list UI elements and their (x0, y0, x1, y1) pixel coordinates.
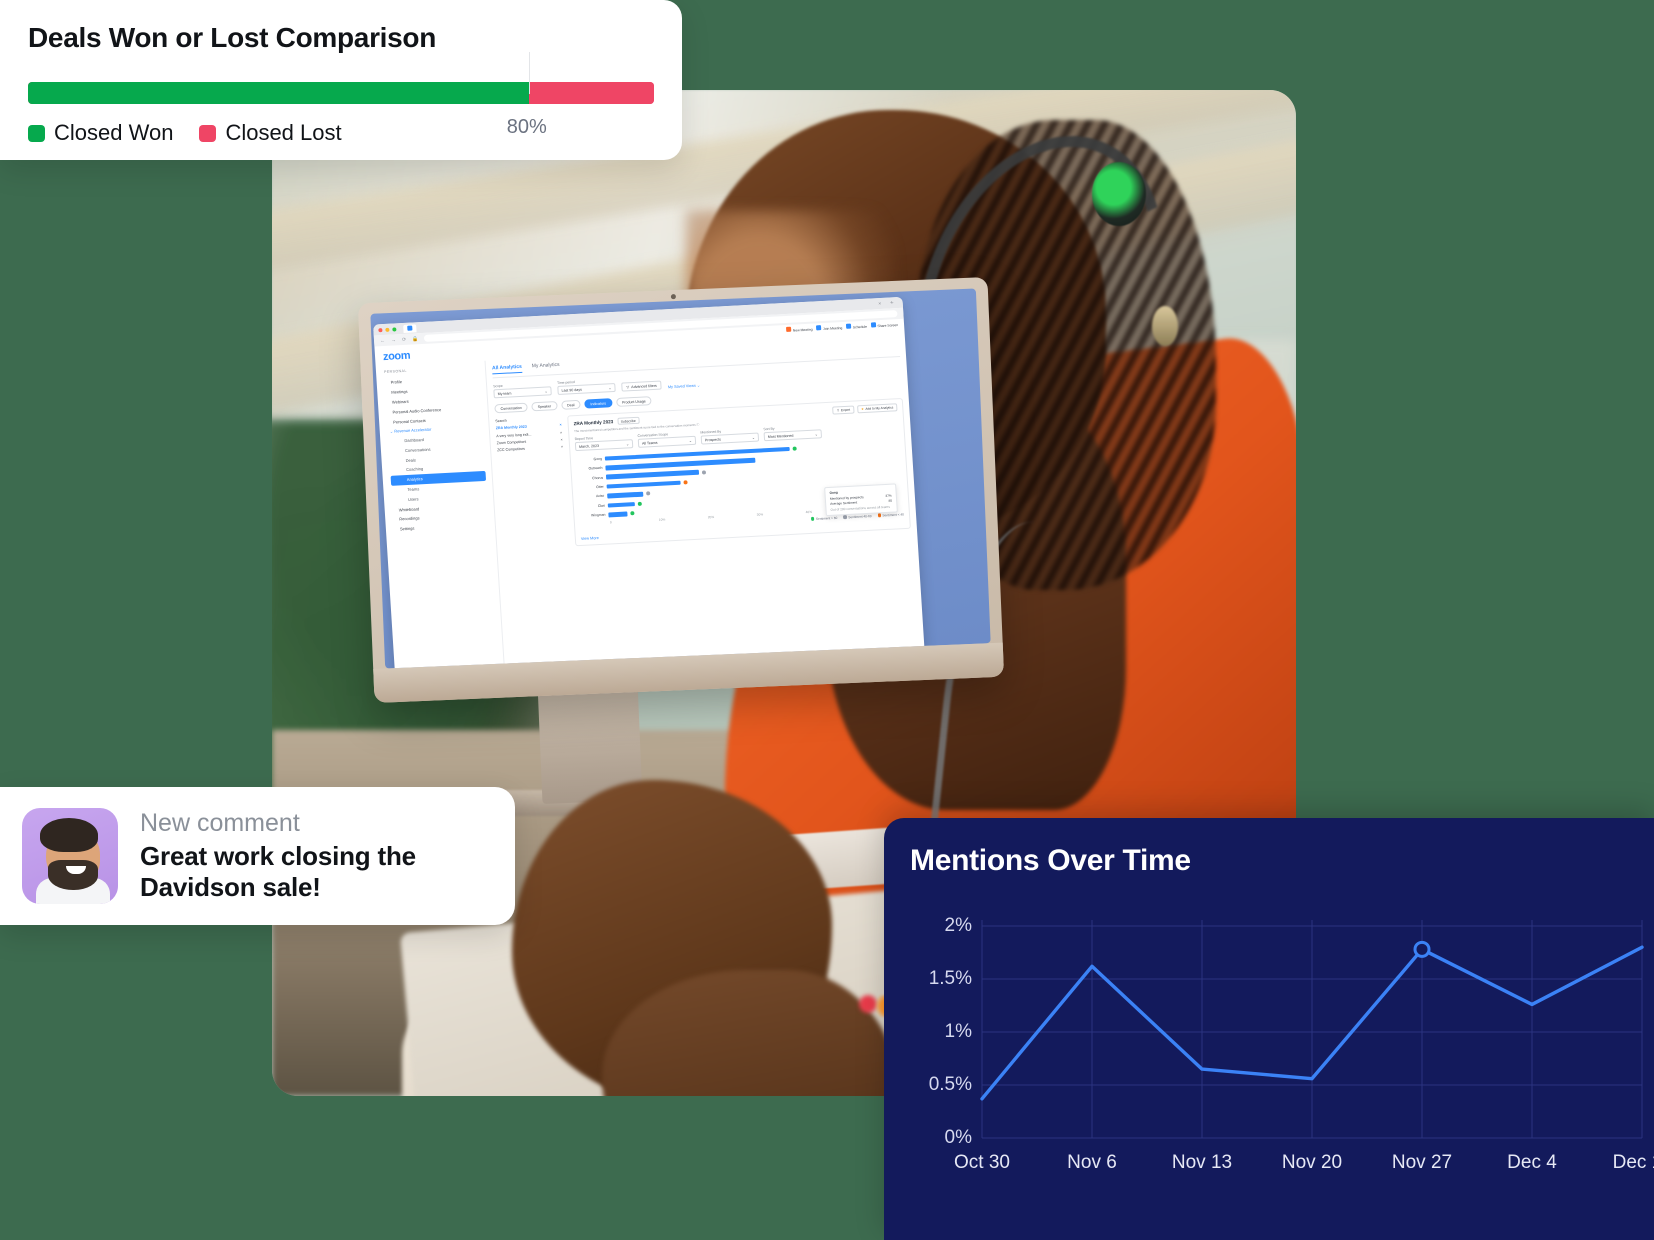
search-panel: Search ZRA Monthly 2023× A very very lon… (495, 416, 569, 550)
search-tag-zra-monthly-2023[interactable]: ZRA Monthly 2023× (496, 423, 562, 430)
join-icon (816, 325, 821, 330)
bar-label: Wingman (579, 513, 605, 518)
percent-label: 80% (507, 116, 547, 139)
search-tag-long-indicator[interactable]: A very very long indi...× (496, 430, 562, 437)
webcam (671, 294, 676, 299)
mentions-over-time-card: Mentions Over Time 2%1.5%1%0.5%0% Oct 30… (884, 818, 1654, 1240)
plus-icon[interactable]: + (890, 300, 894, 306)
search-tag-zoom-competitors[interactable]: Zoom Competitors× (497, 438, 563, 445)
legend-label: Sentiment < 40 (882, 513, 904, 518)
bar-label: Chorus (577, 475, 603, 480)
bar[interactable] (608, 511, 627, 517)
conversation-scope-value: All Teams (642, 441, 658, 446)
calendar-icon (846, 324, 851, 329)
deals-comparison-card: Deals Won or Lost Comparison Closed Won … (0, 0, 682, 160)
search-heading: Search (495, 416, 561, 423)
x-axis-tick: Nov 6 (1042, 1152, 1142, 1174)
legend-label: Closed Lost (225, 120, 341, 146)
bar-label: Clari (579, 504, 605, 509)
sort-by-value: Most Mentioned (768, 434, 794, 439)
x-axis-tick: Nov 13 (1152, 1152, 1252, 1174)
tag-label: A very very long indi... (496, 432, 531, 438)
deals-progress-bar (28, 82, 654, 104)
comment-body: Great work closing the Davidson sale! (140, 841, 493, 902)
comment-heading: New comment (140, 809, 493, 838)
legend-closed-lost: Closed Lost (199, 120, 341, 146)
legend-swatch (199, 125, 216, 142)
scope-value: My team (497, 391, 511, 396)
saved-views-label: My Saved Views (668, 384, 696, 389)
lock-icon: 🔒 (412, 336, 419, 342)
sentiment-dot-positive (638, 502, 642, 506)
tag-label: ZRA Monthly 2023 (496, 425, 527, 431)
bar-label: Otter (578, 485, 604, 490)
scope-select[interactable]: My team⌄ (493, 386, 551, 398)
subscribe-button[interactable]: Subscribe (617, 417, 639, 425)
tooltip-label: Average Sentiment (830, 501, 857, 506)
star-icon: ★ (861, 407, 864, 411)
tooltip-value: 37% (885, 493, 892, 497)
schedule-button[interactable]: Schedule (846, 323, 867, 330)
chevron-down-icon: ⌄ (544, 389, 547, 393)
tooltip-value: 85 (888, 499, 892, 503)
legend-label: Sentiment > 60 (816, 516, 838, 521)
sort-by-select[interactable]: Most Mentioned⌄ (764, 430, 822, 442)
tag-label: Zoom Competitors (497, 440, 527, 446)
legend-closed-won: Closed Won (28, 120, 173, 146)
page-title: Deals Won or Lost Comparison (28, 22, 654, 54)
advanced-filters-button[interactable]: ▽Advanced filters (621, 381, 662, 392)
close-icon[interactable]: × (559, 423, 561, 427)
report-time-value: March, 2023 (579, 444, 599, 449)
chevron-down-icon: ⌄ (752, 436, 755, 440)
mentioned-by-value: Prospects (705, 437, 721, 442)
bar-label: Gong (576, 457, 602, 462)
x-axis-tick: Nov 27 (1372, 1152, 1472, 1174)
info-icon[interactable]: ⓘ (696, 423, 699, 427)
tab-all-analytics[interactable]: All Analytics (492, 364, 522, 375)
close-icon[interactable]: × (878, 300, 881, 306)
sentiment-dot-neutral (646, 492, 650, 496)
sentiment-dot-positive (793, 446, 797, 450)
arrow-left-icon[interactable]: ← (380, 337, 385, 343)
time-period-value: Last 90 days (561, 387, 582, 392)
chip-indicators[interactable]: Indicators (584, 398, 612, 409)
report-title: ZRA Monthly 2023 (574, 419, 614, 426)
share-icon (871, 322, 876, 327)
legend-swatch (28, 125, 45, 142)
sentiment-dot-positive (630, 511, 634, 515)
content-split: Search ZRA Monthly 2023× A very very lon… (495, 398, 911, 549)
report-time-select[interactable]: March, 2023⌄ (575, 439, 633, 451)
chip-deal[interactable]: Deal (561, 400, 581, 410)
reload-icon[interactable]: ⟳ (402, 336, 407, 342)
avatar (22, 808, 118, 904)
chart-title: Mentions Over Time (910, 844, 1654, 878)
zoom-favicon (407, 326, 412, 331)
search-tag-zcc-competitors[interactable]: ZCC Competitors× (497, 445, 563, 452)
report-time-field: Report Time March, 2023⌄ (575, 435, 634, 452)
minimize-window-icon[interactable] (385, 327, 389, 331)
chart-svg (910, 898, 1654, 1158)
time-period-field: Time period Last 90 days⌄ (557, 378, 616, 395)
schedule-label: Schedule (853, 325, 867, 330)
close-icon[interactable]: × (561, 445, 563, 449)
report-panel: ⇪Export ★Add to My Analytics ZRA Monthly… (567, 398, 911, 546)
x-axis-tick: Dec 4 (1482, 1152, 1582, 1174)
chevron-down-icon: ⌄ (626, 442, 629, 446)
conversation-scope-select[interactable]: All Teams⌄ (638, 436, 696, 448)
axis-tick: 20% (708, 513, 757, 520)
x-axis-tick: Nov 20 (1262, 1152, 1362, 1174)
sidebar-item-label: Revenue Accelerator (394, 427, 431, 434)
deals-legend: Closed Won Closed Lost (28, 120, 654, 146)
chevron-down-icon: ⌄ (815, 432, 818, 436)
time-period-select[interactable]: Last 90 days⌄ (557, 383, 615, 395)
monitor-screen: × + ← → ⟳ 🔒 zoom P (370, 288, 990, 668)
export-icon: ⇪ (837, 408, 840, 412)
export-button[interactable]: ⇪Export (833, 406, 855, 415)
axis-tick: 0 (610, 518, 659, 525)
computer-monitor: × + ← → ⟳ 🔒 zoom P (358, 277, 1004, 703)
legend-label: Sentiment 40-60 (848, 514, 872, 519)
video-icon (786, 327, 791, 332)
bar-tooltip: Gong Mentioned by prospects37% Average S… (824, 484, 898, 516)
legend-positive: Sentiment > 60 (811, 516, 838, 522)
bar-label: Outreach (576, 466, 602, 471)
page-root: × + ← → ⟳ 🔒 zoom P (0, 0, 1654, 1240)
headset-earcup (1092, 162, 1146, 226)
axis-tick: 30% (757, 510, 806, 517)
closed-won-segment (28, 82, 529, 104)
filter-icon: ▽ (626, 385, 629, 389)
saved-views-button[interactable]: My Saved Views ⌄ (668, 383, 701, 390)
add-to-my-analytics-label: Add to My Analytics (865, 406, 893, 411)
close-icon[interactable]: × (560, 438, 562, 442)
browser-tab[interactable] (403, 324, 416, 333)
sidebar: PERSONAL Profile Meetings Webinars Perso… (376, 361, 506, 669)
bar[interactable] (607, 492, 643, 498)
comment-text: New comment Great work closing the David… (140, 809, 493, 902)
bar[interactable] (608, 502, 635, 508)
chip-product-usage[interactable]: Product Usage (616, 396, 652, 407)
close-window-icon[interactable] (378, 328, 382, 332)
legend-label: Closed Won (54, 120, 173, 146)
conversation-scope-field: Conversation Scope All Teams⌄ (637, 431, 696, 448)
maximize-window-icon[interactable] (392, 327, 396, 331)
earring (1152, 306, 1178, 346)
advanced-filters-label: Advanced filters (631, 383, 657, 388)
closed-lost-segment (529, 82, 654, 104)
axis-tick: 10% (659, 515, 708, 522)
app-body: PERSONAL Profile Meetings Webinars Perso… (376, 339, 925, 669)
competitor-bar-chart: Gong Outreach Chorus Otter Aviso Clari W… (576, 440, 904, 527)
sort-by-field: Sort By Most Mentioned⌄ (763, 425, 822, 442)
browser-window[interactable]: × + ← → ⟳ 🔒 zoom P (373, 297, 925, 669)
line-chart: 2%1.5%1%0.5%0% Oct 30Nov 6Nov 13Nov 20No… (910, 898, 1654, 1218)
bar[interactable] (607, 480, 681, 488)
chip-speaker[interactable]: Speaker (531, 401, 557, 411)
x-axis-tick: Dec 11 (1592, 1152, 1654, 1174)
scope-field: Scope My team⌄ (493, 381, 552, 398)
tab-my-analytics[interactable]: My Analytics (532, 362, 560, 372)
bar-label: Aviso (578, 494, 604, 499)
x-axis-tick: Oct 30 (932, 1152, 1032, 1174)
mentioned-by-field: Mentioned By Prospects⌄ (700, 428, 759, 445)
tag-label: ZCC Competitors (497, 447, 525, 452)
sentiment-dot-negative (683, 480, 687, 484)
sentiment-dot-neutral (702, 470, 706, 474)
tooltip-note: Out of 200 conversations across all team… (830, 505, 892, 512)
close-icon[interactable]: × (560, 430, 562, 434)
progress-tick (529, 52, 530, 94)
chip-conversation[interactable]: Conversation (494, 403, 528, 414)
chevron-down-icon: ⌄ (689, 439, 692, 443)
chevron-down-icon: ⌄ (608, 386, 611, 390)
new-comment-card[interactable]: New comment Great work closing the David… (0, 787, 515, 925)
export-label: Export (841, 408, 850, 412)
main-content: New Meeting Join Meeting Schedule Share … (486, 339, 925, 669)
arrow-right-icon[interactable]: → (391, 337, 396, 343)
mentioned-by-select[interactable]: Prospects⌄ (701, 433, 759, 445)
